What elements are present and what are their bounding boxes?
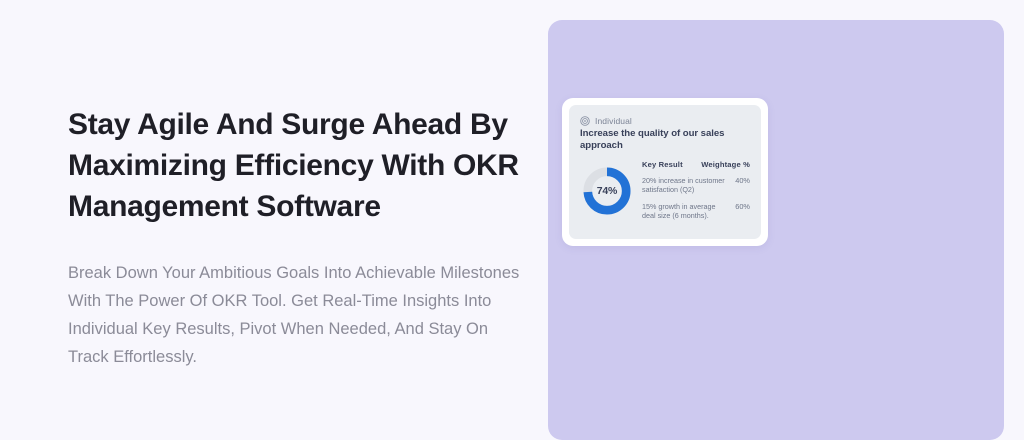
- target-icon: [580, 116, 590, 126]
- table-row: 20% increase in customer satisfaction (Q…: [642, 176, 750, 202]
- hero-description: Break Down Your Ambitious Goals Into Ach…: [68, 227, 528, 371]
- okr-card-header: Individual: [580, 115, 750, 126]
- page-title: Stay Agile And Surge Ahead By Maximizing…: [68, 104, 528, 227]
- okr-card-body: 74% Key Result Weightage % 20% increase …: [580, 159, 750, 228]
- hero-text-column: Stay Agile And Surge Ahead By Maximizing…: [68, 104, 528, 371]
- column-header-key-result: Key Result: [642, 160, 683, 169]
- progress-percent-label: 74%: [581, 165, 633, 217]
- progress-donut: 74%: [581, 165, 633, 217]
- key-result-text: 20% increase in customer satisfaction (Q…: [642, 176, 726, 195]
- key-result-weightage: 60%: [731, 202, 750, 211]
- table-row: 15% growth in average deal size (6 month…: [642, 202, 750, 228]
- column-header-weightage: Weightage %: [701, 160, 750, 169]
- okr-owner-label: Individual: [595, 116, 632, 126]
- key-results-table: Key Result Weightage % 20% increase in c…: [642, 160, 750, 228]
- key-result-text: 15% growth in average deal size (6 month…: [642, 202, 726, 221]
- table-header-row: Key Result Weightage %: [642, 160, 750, 176]
- okr-card[interactable]: Individual Increase the quality of our s…: [562, 98, 768, 246]
- okr-card-inner: Individual Increase the quality of our s…: [569, 105, 761, 239]
- key-result-weightage: 40%: [731, 176, 750, 185]
- okr-objective-title: Increase the quality of our sales approa…: [580, 128, 730, 153]
